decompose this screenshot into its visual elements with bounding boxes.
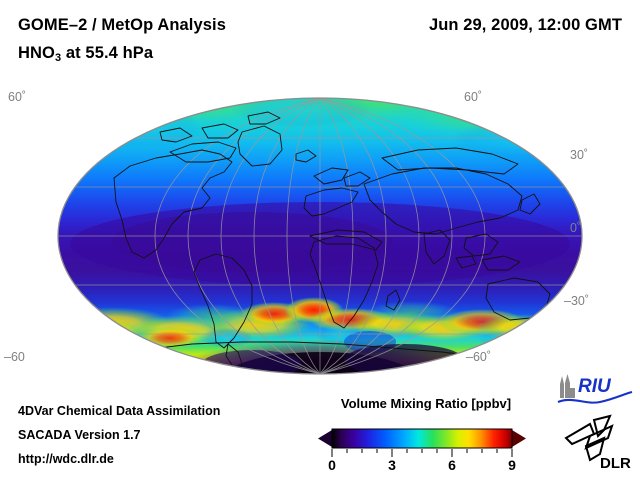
lat-label-right-m60: –60˚ xyxy=(466,350,491,364)
figure-canvas: GOME–2 / MetOp Analysis HNO3 at 55.4 hPa… xyxy=(0,0,640,480)
colorbar-ticks xyxy=(332,449,512,457)
colorbar-title: Volume Mixing Ratio [ppbv] xyxy=(310,396,542,411)
colorbar: Volume Mixing Ratio [ppbv] xyxy=(310,396,542,474)
riu-logo: RIU xyxy=(556,372,634,408)
world-map-panel: 60˚ 30˚ 0˚ –30˚ –60 60˚ 30˚ 0˚ –30˚ –60˚ xyxy=(52,92,588,380)
species-subscript: 3 xyxy=(55,52,61,64)
dlr-wordmark: DLR xyxy=(600,455,631,472)
colorbar-extend-max xyxy=(512,430,526,447)
colorbar-scale: 0 3 6 9 xyxy=(310,416,542,472)
colorbar-tick-label-6: 6 xyxy=(448,457,456,472)
colorbar-tick-label-9: 9 xyxy=(508,457,516,472)
mollweide-map xyxy=(52,92,588,380)
cathedral-icon xyxy=(560,374,575,398)
colorbar-gradient xyxy=(332,429,512,448)
lat-label-right-m30: –30˚ xyxy=(564,294,589,308)
lat-label-right-60: 60˚ xyxy=(464,90,482,104)
colorbar-extend-min xyxy=(318,430,332,447)
version-label: SACADA Version 1.7 xyxy=(18,428,141,442)
website-link[interactable]: http://wdc.dlr.de xyxy=(18,452,114,466)
colorbar-tick-label-0: 0 xyxy=(328,457,336,472)
lat-label-left-60: 60˚ xyxy=(8,90,26,104)
timestamp-label: Jun 29, 2009, 12:00 GMT xyxy=(429,16,622,35)
lat-label-left-m60: –60 xyxy=(4,350,25,364)
lat-label-right-0: 0˚ xyxy=(570,221,581,235)
colorbar-tick-label-3: 3 xyxy=(388,457,396,472)
method-label: 4DVar Chemical Data Assimilation xyxy=(18,404,220,418)
pressure-level-text: at 55.4 hPa xyxy=(61,44,153,62)
dlr-logo: DLR xyxy=(560,414,636,472)
lat-label-right-30: 30˚ xyxy=(570,148,588,162)
dlr-mark-icon xyxy=(566,416,612,460)
riu-wordmark: RIU xyxy=(578,376,612,397)
page-title: GOME–2 / MetOp Analysis xyxy=(18,16,226,35)
species-name: HNO xyxy=(18,44,55,62)
species-level-subtitle: HNO3 at 55.4 hPa xyxy=(18,44,153,63)
